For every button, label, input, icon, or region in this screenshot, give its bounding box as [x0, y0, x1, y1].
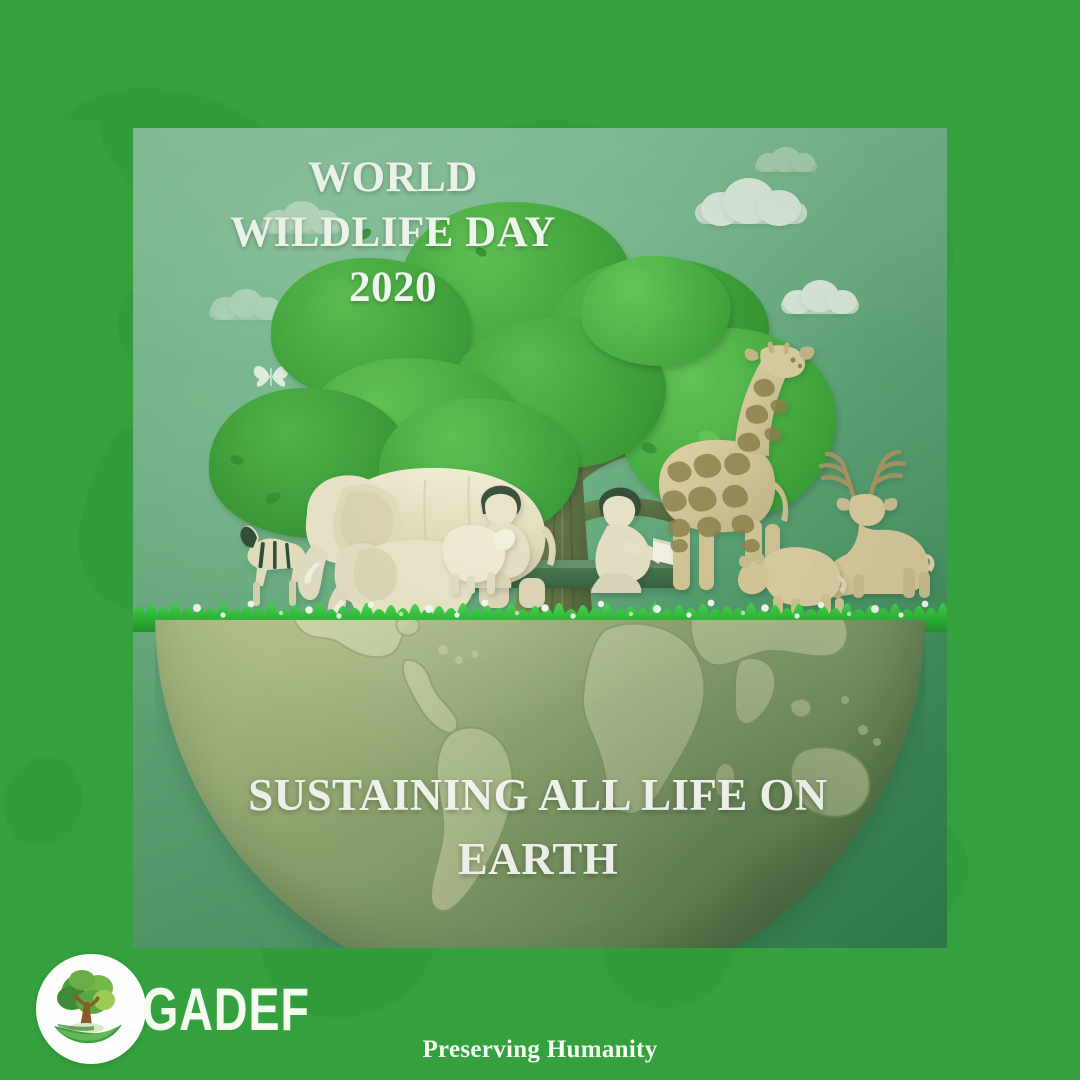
brand-name: GADEF — [142, 980, 310, 1040]
headline-line-1: WORLD — [153, 150, 633, 205]
headline-line-3: 2020 — [153, 260, 633, 315]
brand-slogan: Preserving Humanity — [0, 1036, 1080, 1064]
poster-tagline: SUSTAINING ALL LIFE ON EARTH — [188, 764, 888, 892]
page-title: WORLD WILDLIFE DAY 2020 — [153, 150, 633, 315]
cloud-icon — [755, 146, 817, 172]
tagline-line-2: EARTH — [188, 828, 888, 892]
footer-bar: GADEF Preserving Humanity — [0, 948, 1080, 1080]
headline-line-2: WILDLIFE DAY — [153, 205, 633, 260]
poster-canvas: WORLD WILDLIFE DAY 2020 SUSTAINING ALL L… — [0, 0, 1080, 1080]
tagline-line-1: SUSTAINING ALL LIFE ON — [188, 764, 888, 828]
poster-inner-panel: WORLD WILDLIFE DAY 2020 SUSTAINING ALL L… — [133, 128, 947, 948]
